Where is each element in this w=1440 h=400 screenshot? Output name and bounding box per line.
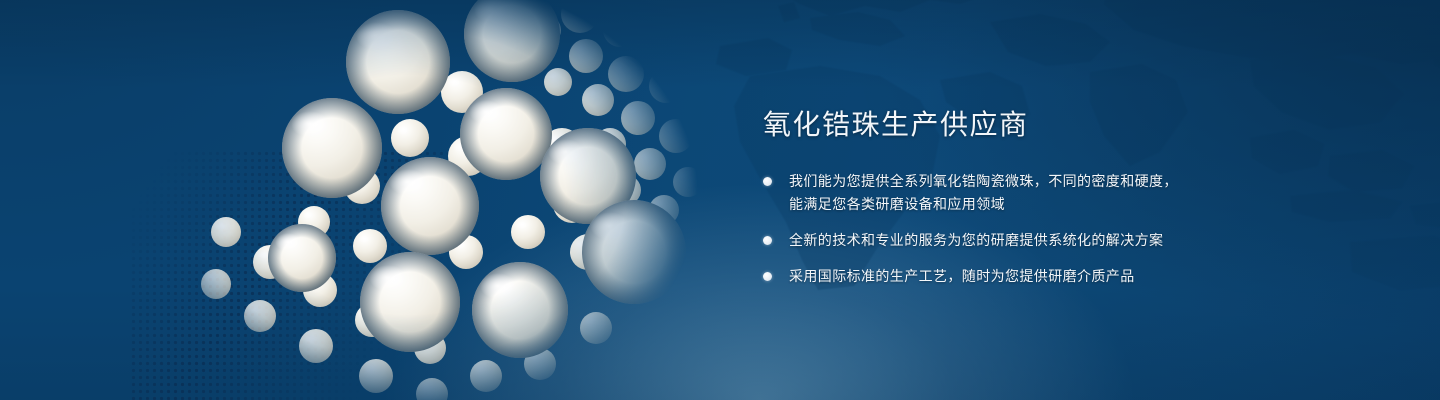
zirconia-beads-photo [110, 0, 730, 400]
list-item: 我们能为您提供全系列氧化锆陶瓷微珠，不同的密度和硬度， 能满足您各类研磨设备和应… [763, 170, 1233, 216]
hero-banner: 氧化锆珠生产供应商 我们能为您提供全系列氧化锆陶瓷微珠，不同的密度和硬度， 能满… [0, 0, 1440, 400]
list-item-label: 采用国际标准的生产工艺，随时为您提供研磨介质产品 [789, 265, 1233, 288]
page-title: 氧化锆珠生产供应商 [763, 108, 1233, 142]
list-item: 采用国际标准的生产工艺，随时为您提供研磨介质产品 [763, 265, 1233, 288]
list-item: 全新的技术和专业的服务为您的研磨提供系统化的解决方案 [763, 229, 1233, 252]
bullet-dot-icon [763, 177, 772, 186]
bullet-dot-icon [763, 272, 772, 281]
feature-list: 我们能为您提供全系列氧化锆陶瓷微珠，不同的密度和硬度， 能满足您各类研磨设备和应… [763, 170, 1233, 288]
banner-copy: 氧化锆珠生产供应商 我们能为您提供全系列氧化锆陶瓷微珠，不同的密度和硬度， 能满… [763, 108, 1233, 288]
list-item-label-line2: 能满足您各类研磨设备和应用领域 [789, 193, 1233, 216]
list-item-label: 我们能为您提供全系列氧化锆陶瓷微珠，不同的密度和硬度， [789, 170, 1233, 193]
list-item-label: 全新的技术和专业的服务为您的研磨提供系统化的解决方案 [789, 229, 1233, 252]
bullet-dot-icon [763, 236, 772, 245]
